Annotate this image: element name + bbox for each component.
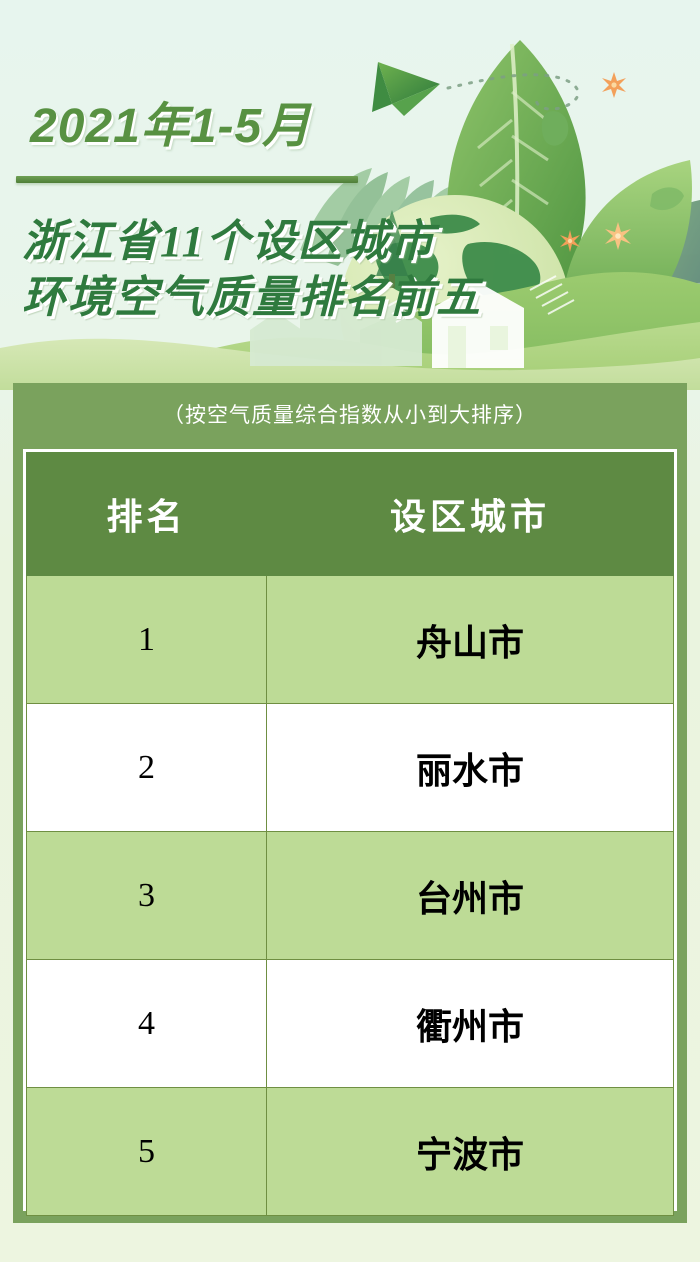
cell-city: 宁波市 [267,1088,674,1216]
table-body: 1 舟山市 2 丽水市 3 台州市 4 衢州市 [27,576,674,1216]
table-header-row: 排名 设区城市 [27,453,674,576]
ranking-panel: （按空气质量综合指数从小到大排序） 排名 设区城市 1 舟山市 2 [13,383,687,1223]
ranking-table: 排名 设区城市 1 舟山市 2 丽水市 3 台州市 [26,452,674,1216]
cell-city: 舟山市 [267,576,674,704]
page-title: 浙江省11个设区城市 环境空气质量排名前五 [22,214,482,326]
page-title-line2: 环境空气质量排名前五 [22,270,482,326]
table-row: 2 丽水市 [27,704,674,832]
cell-city: 衢州市 [267,960,674,1088]
cell-rank: 2 [27,704,267,832]
cell-rank: 4 [27,960,267,1088]
kicker-date: 2021年1-5月 [30,86,311,156]
table-container: 排名 设区城市 1 舟山市 2 丽水市 3 台州市 [23,449,677,1211]
cell-rank: 1 [27,576,267,704]
decorative-artwork [0,0,700,390]
cell-city: 台州市 [267,832,674,960]
cell-city: 丽水市 [267,704,674,832]
column-header-rank: 排名 [27,453,267,576]
poster-canvas: 2021年1-5月 浙江省11个设区城市 环境空气质量排名前五 （按空气质量综合… [0,0,700,1262]
table-row: 1 舟山市 [27,576,674,704]
page-title-line1: 浙江省11个设区城市 [22,214,482,270]
paper-airplane-icon [372,62,440,116]
table-row: 3 台州市 [27,832,674,960]
cell-rank: 3 [27,832,267,960]
cell-rank: 5 [27,1088,267,1216]
table-subtitle: （按空气质量综合指数从小到大排序） [13,383,687,449]
column-header-city: 设区城市 [267,453,674,576]
table-row: 4 衢州市 [27,960,674,1088]
title-divider [16,176,358,183]
table-row: 5 宁波市 [27,1088,674,1216]
